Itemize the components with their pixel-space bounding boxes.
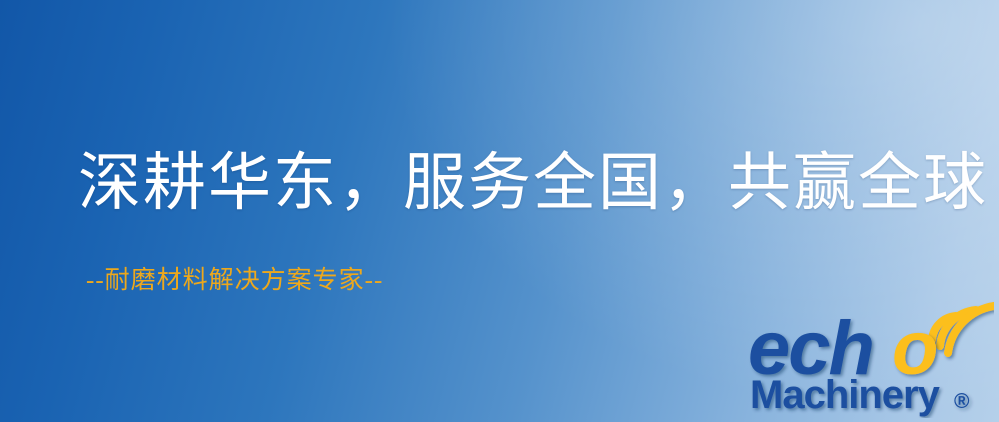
logo-registered-mark: ® [954,390,970,413]
echo-machinery-logo: ech o Machinery ® [744,296,994,418]
banner-subtitle: --耐磨材料解决方案专家-- [86,268,383,293]
hero-banner: 深耕华东，服务全国，共赢全球 --耐磨材料解决方案专家-- ech o [0,0,999,422]
signal-wave-icon [932,306,994,353]
logo-machinery-text: Machinery [750,373,941,417]
banner-headline: 深耕华东，服务全国，共赢全球 [78,152,988,215]
